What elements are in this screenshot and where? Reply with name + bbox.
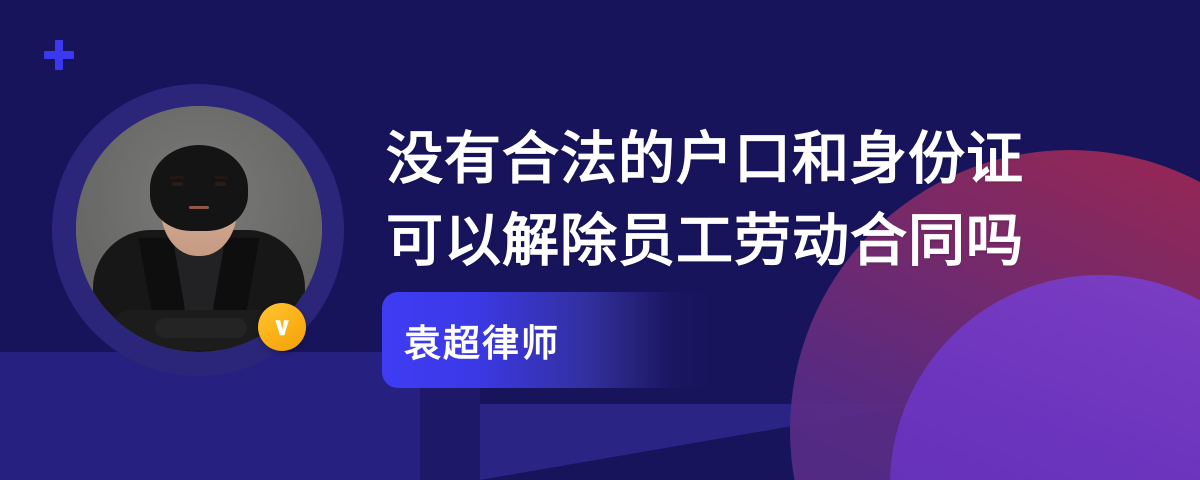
avatar (52, 84, 344, 376)
headline-line-2: 可以解除员工劳动合同吗 (386, 200, 1086, 282)
plus-icon (44, 40, 74, 70)
portrait-hair (150, 145, 248, 231)
lawyer-name-label: 袁超律师 (404, 313, 560, 367)
verified-badge-icon (258, 303, 306, 351)
lawyer-question-banner: 没有合法的户口和身份证 可以解除员工劳动合同吗 袁超律师 (0, 0, 1200, 480)
portrait-eye-left (172, 182, 183, 186)
portrait-eye-right (215, 182, 226, 186)
headline-line-1: 没有合法的户口和身份证 (386, 118, 1086, 200)
headline-block: 没有合法的户口和身份证 可以解除员工劳动合同吗 (386, 118, 1086, 282)
lawyer-name-badge: 袁超律师 (382, 292, 712, 388)
geometric-wedge-column (420, 372, 480, 480)
portrait-mouth (189, 206, 209, 209)
